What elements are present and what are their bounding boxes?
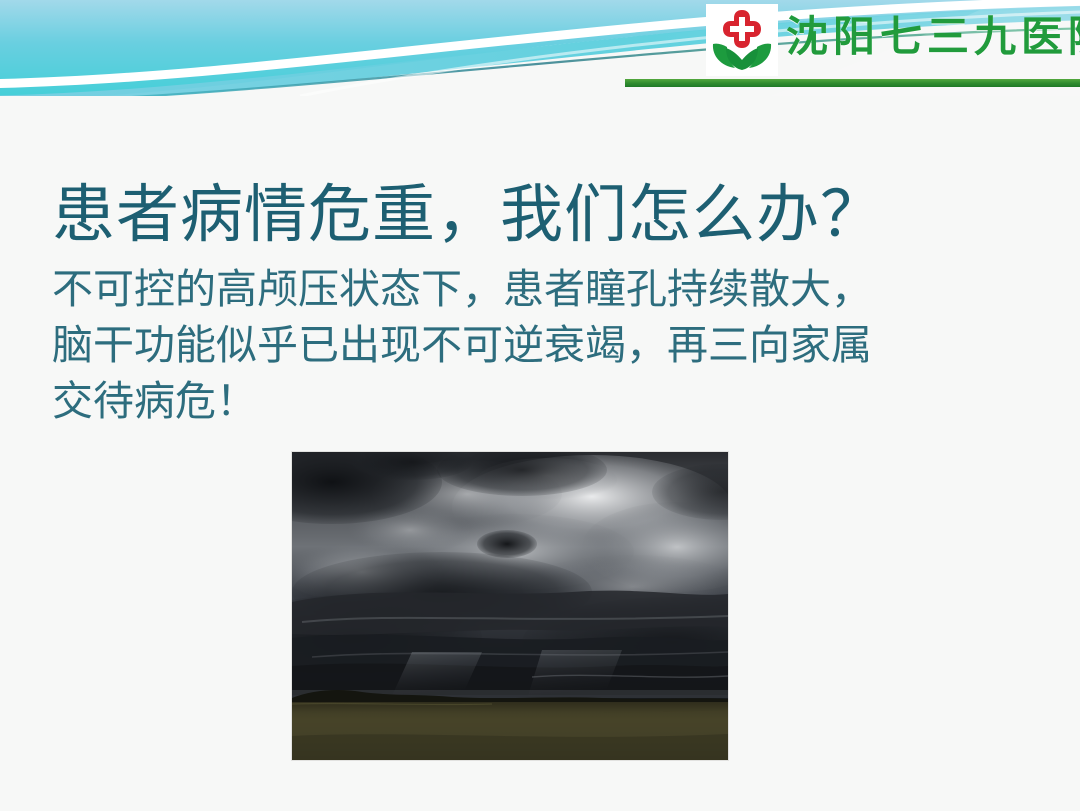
- body-line-3: 交待病危！: [52, 373, 1037, 429]
- header-green-divider-bar: [625, 79, 1080, 87]
- storm-clouds-photo: [292, 452, 728, 760]
- hospital-name-text: 沈阳七三九医院: [786, 8, 1080, 68]
- presentation-slide: 沈阳七三九医院 患者病情危重，我们怎么办？ 不可控的高颅压状态下，患者瞳孔持续散…: [0, 0, 1080, 811]
- slide-title: 患者病情危重，我们怎么办？: [52, 178, 1032, 252]
- storm-clouds-illustration: [292, 452, 728, 760]
- slide-body-text: 不可控的高颅压状态下，患者瞳孔持续散大， 脑干功能似乎已出现不可逆衰竭，再三向家…: [52, 261, 1037, 429]
- medical-cross-in-hands-logo-icon: [706, 4, 778, 76]
- body-line-1: 不可控的高颅压状态下，患者瞳孔持续散大，: [52, 261, 1037, 317]
- body-line-2: 脑干功能似乎已出现不可逆衰竭，再三向家属: [52, 317, 1037, 373]
